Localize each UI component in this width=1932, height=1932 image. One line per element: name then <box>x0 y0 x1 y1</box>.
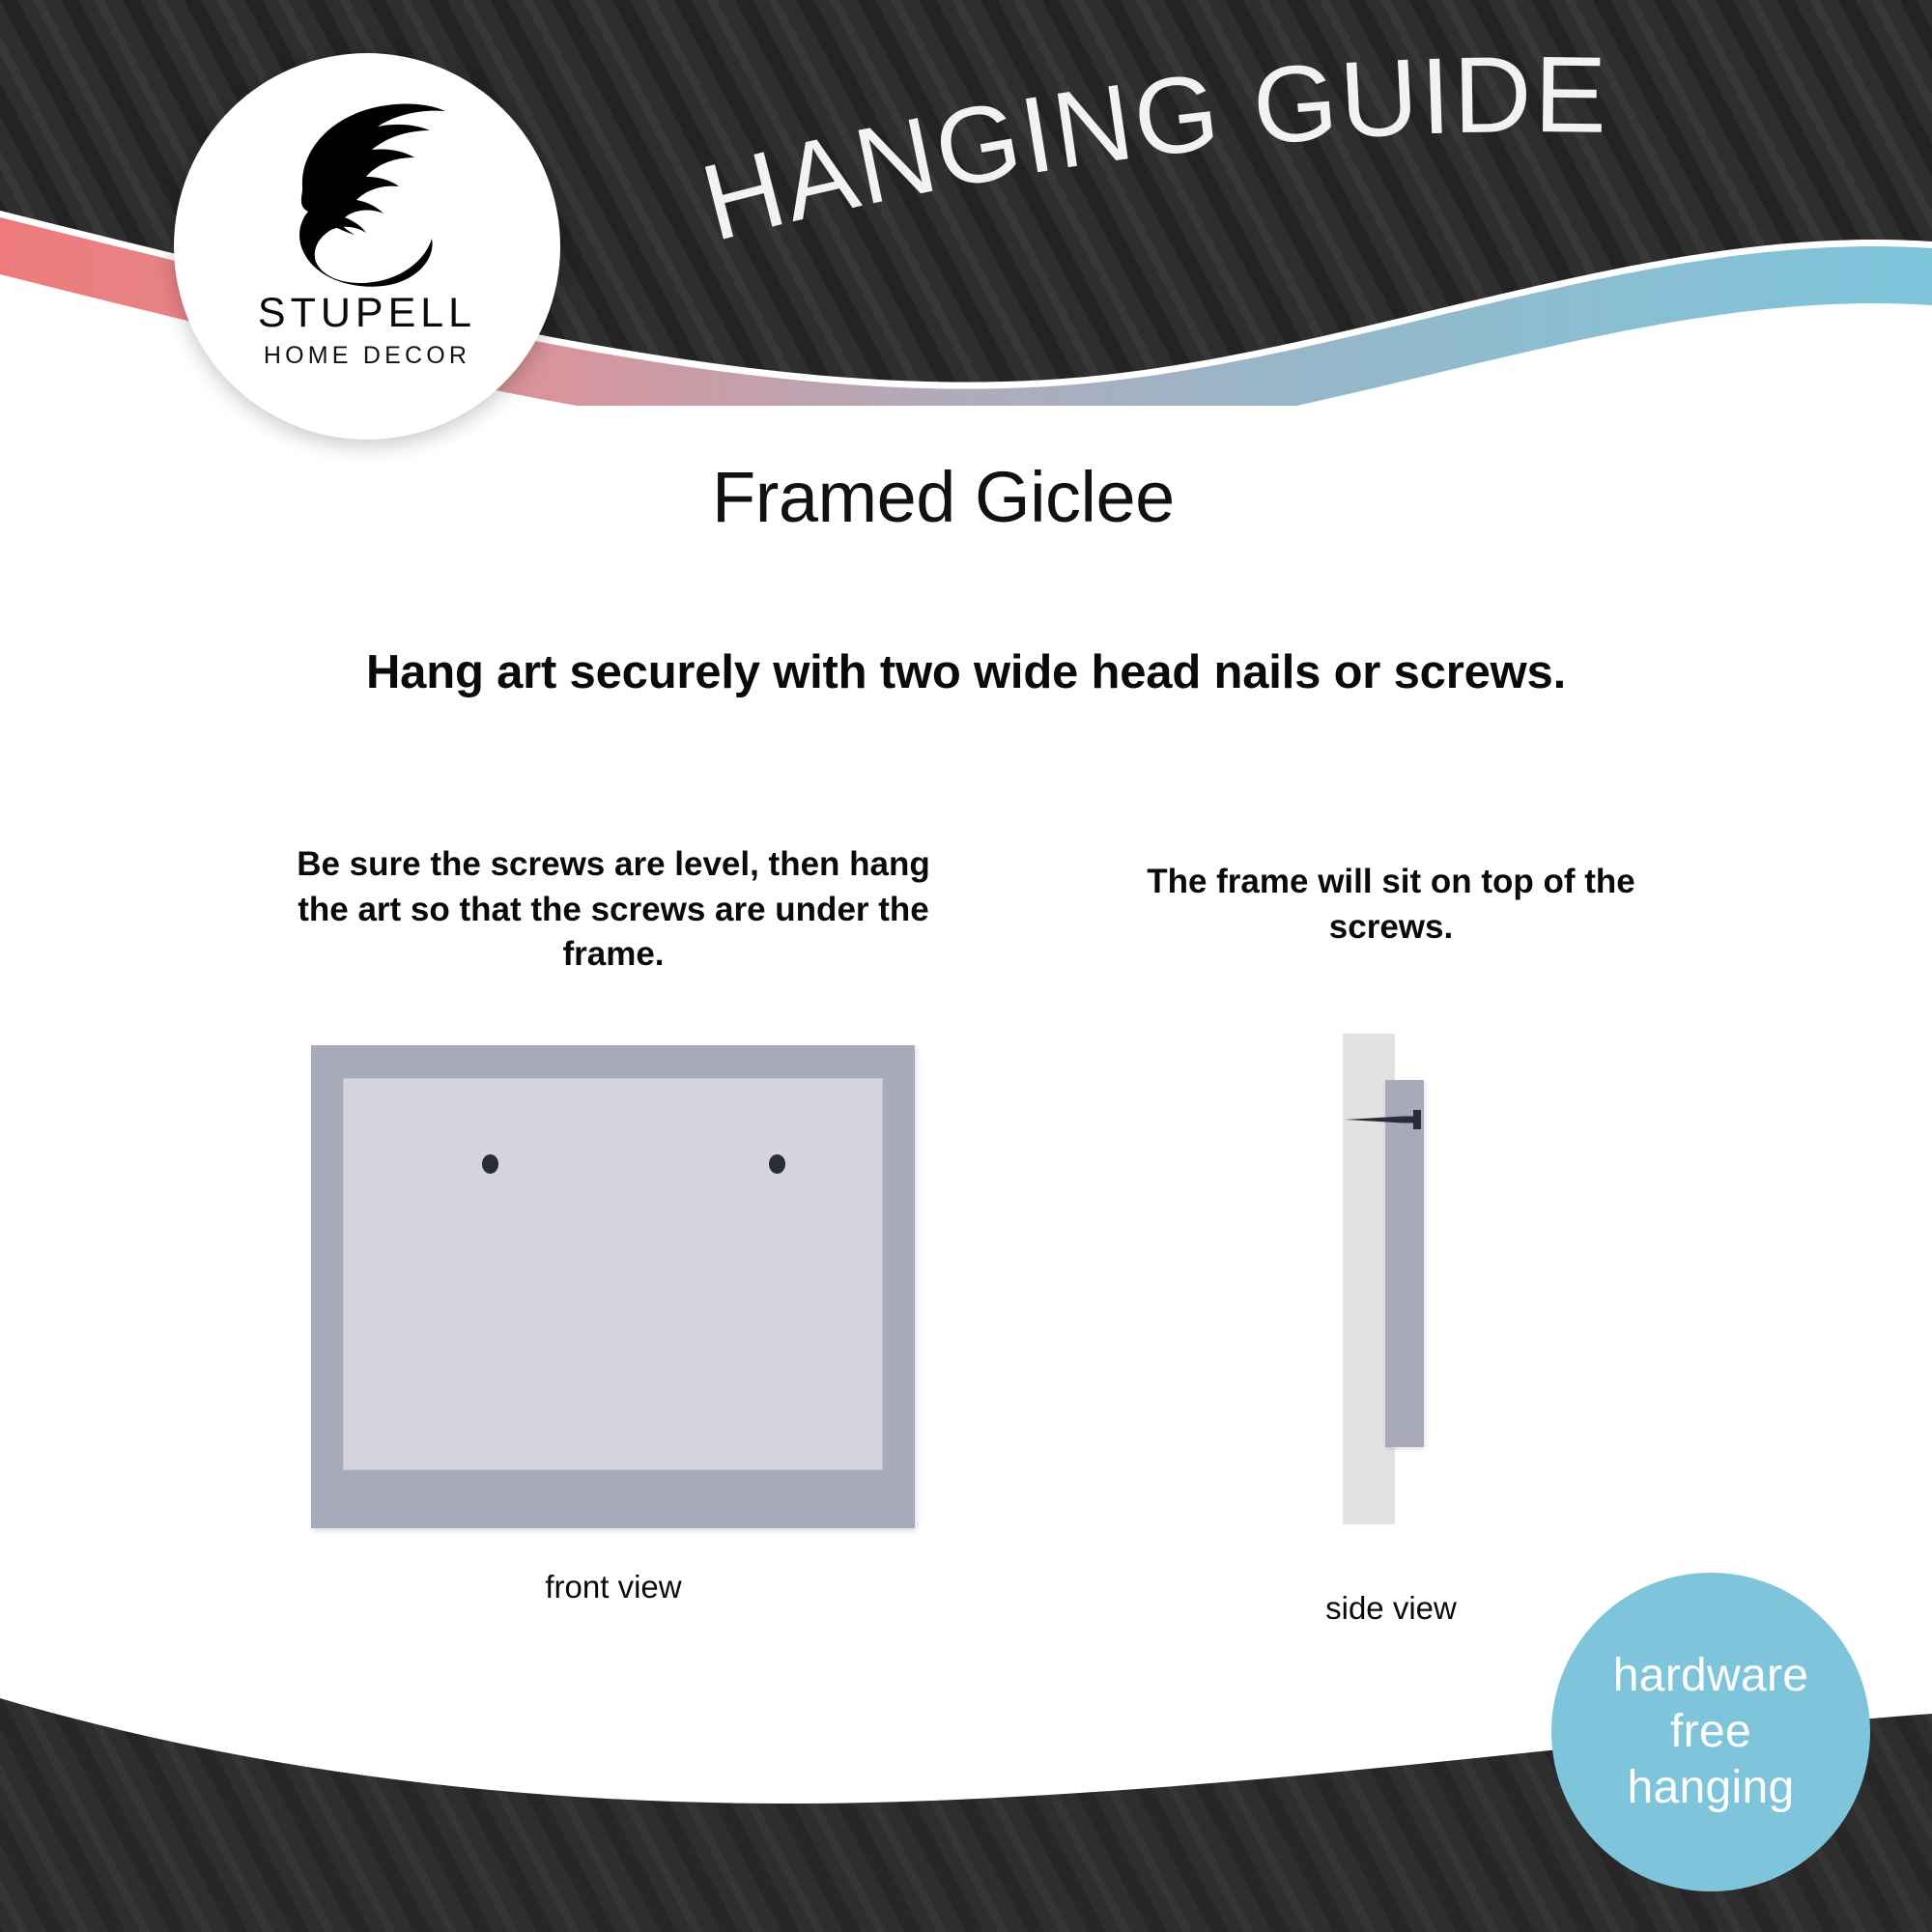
hardware-free-hanging-badge: hardware free hanging <box>1551 1573 1870 1891</box>
hanging-guide-page: HANGING GUIDE STUPELL HOME DECOR Framed … <box>0 0 1932 1932</box>
svg-text:HANGING GUIDE: HANGING GUIDE <box>696 48 1609 264</box>
badge-line-3: hanging <box>1628 1761 1795 1815</box>
badge-line-1: hardware <box>1613 1649 1809 1703</box>
side-view-diagram <box>1343 1034 1488 1536</box>
side-view-frame <box>1385 1080 1424 1447</box>
screw-dot-right <box>769 1154 785 1174</box>
nail-icon <box>1345 1109 1428 1130</box>
product-type-heading: Framed Giclee <box>712 462 1175 533</box>
logo-subwordmark: HOME DECOR <box>264 344 470 368</box>
front-view-label: front view <box>309 1571 918 1603</box>
badge-line-2: free <box>1670 1705 1751 1759</box>
logo-wordmark: STUPELL <box>258 293 476 334</box>
stupell-swan-mark-icon <box>275 94 459 287</box>
side-view-caption: The frame will sit on top of the screws. <box>1092 860 1690 950</box>
instruction-lede: Hang art securely with two wide head nai… <box>0 649 1932 696</box>
front-view-diagram <box>311 1045 915 1528</box>
brand-logo-badge: STUPELL HOME DECOR <box>174 53 560 440</box>
page-title-text: HANGING GUIDE <box>696 48 1609 264</box>
front-view-mat <box>343 1078 883 1470</box>
front-view-caption: Be sure the screws are level, then hang … <box>280 842 947 978</box>
screw-dot-left <box>482 1154 498 1174</box>
page-title: HANGING GUIDE <box>696 48 1893 270</box>
